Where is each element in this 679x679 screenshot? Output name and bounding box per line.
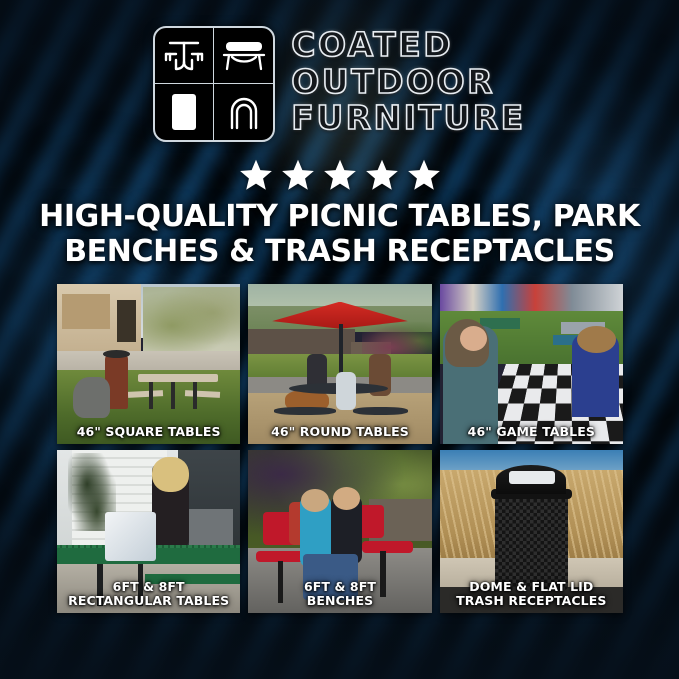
wordmark-line-furniture: FURNITURE — [291, 101, 525, 136]
caption-line-1: 46" ROUND TABLES — [252, 425, 427, 439]
product-tile-grid: 46" SQUARE TABLES 46" ROUND TABLES — [57, 284, 623, 613]
star-icon — [323, 158, 357, 192]
caption-line-1: 46" SQUARE TABLES — [61, 425, 236, 439]
caption-line-2: RECTANGULAR TABLES — [61, 594, 236, 608]
product-tile-trash-receptacles[interactable]: DOME & FLAT LID TRASH RECEPTACLES — [440, 450, 623, 613]
tile-caption: 6FT & 8FT BENCHES — [248, 580, 431, 609]
tile-caption: DOME & FLAT LID TRASH RECEPTACLES — [440, 580, 623, 609]
headline-line-2: BENCHES & TRASH RECEPTACLES — [30, 235, 649, 270]
logo-icon-grid — [153, 26, 275, 142]
tile-caption: 6FT & 8FT RECTANGULAR TABLES — [57, 580, 240, 609]
star-icon — [239, 158, 273, 192]
caption-line-2: TRASH RECEPTACLES — [444, 594, 619, 608]
bench-icon — [214, 28, 273, 84]
star-icon — [407, 158, 441, 192]
headline: HIGH-QUALITY PICNIC TABLES, PARK BENCHES… — [0, 200, 679, 270]
picnic-table-icon — [155, 28, 214, 84]
product-tile-square-tables[interactable]: 46" SQUARE TABLES — [57, 284, 240, 444]
brand-logo: COATED OUTDOOR FURNITURE — [0, 26, 679, 142]
wordmark-line-coated: COATED — [291, 28, 525, 63]
promo-banner: COATED OUTDOOR FURNITURE HIGH-QUALITY PI… — [0, 0, 679, 679]
product-tile-game-tables[interactable]: 46" GAME TABLES — [440, 284, 623, 444]
trash-can-body — [495, 492, 568, 590]
product-photo-square-tables — [57, 284, 240, 444]
caption-line-1: 6FT & 8FT — [252, 580, 427, 594]
product-tile-round-tables[interactable]: 46" ROUND TABLES — [248, 284, 431, 444]
caption-line-2: BENCHES — [252, 594, 427, 608]
bike-rack-icon — [214, 84, 273, 140]
product-tile-benches[interactable]: 6FT & 8FT BENCHES — [248, 450, 431, 613]
headline-line-1: HIGH-QUALITY PICNIC TABLES, PARK — [30, 200, 649, 235]
tile-caption: 46" SQUARE TABLES — [57, 425, 240, 439]
tile-caption: 46" ROUND TABLES — [248, 425, 431, 439]
star-icon — [365, 158, 399, 192]
product-photo-game-tables — [440, 284, 623, 444]
rating-stars — [0, 158, 679, 192]
wordmark-line-outdoor: OUTDOOR — [291, 65, 525, 100]
product-tile-rectangular-tables[interactable]: 6FT & 8FT RECTANGULAR TABLES — [57, 450, 240, 613]
trash-receptacle-icon — [155, 84, 214, 140]
product-photo-round-tables — [248, 284, 431, 444]
caption-line-1: 46" GAME TABLES — [444, 425, 619, 439]
brand-wordmark: COATED OUTDOOR FURNITURE — [291, 26, 525, 136]
star-icon — [281, 158, 315, 192]
tile-caption: 46" GAME TABLES — [440, 425, 623, 439]
caption-line-1: DOME & FLAT LID — [444, 580, 619, 594]
caption-line-1: 6FT & 8FT — [61, 580, 236, 594]
